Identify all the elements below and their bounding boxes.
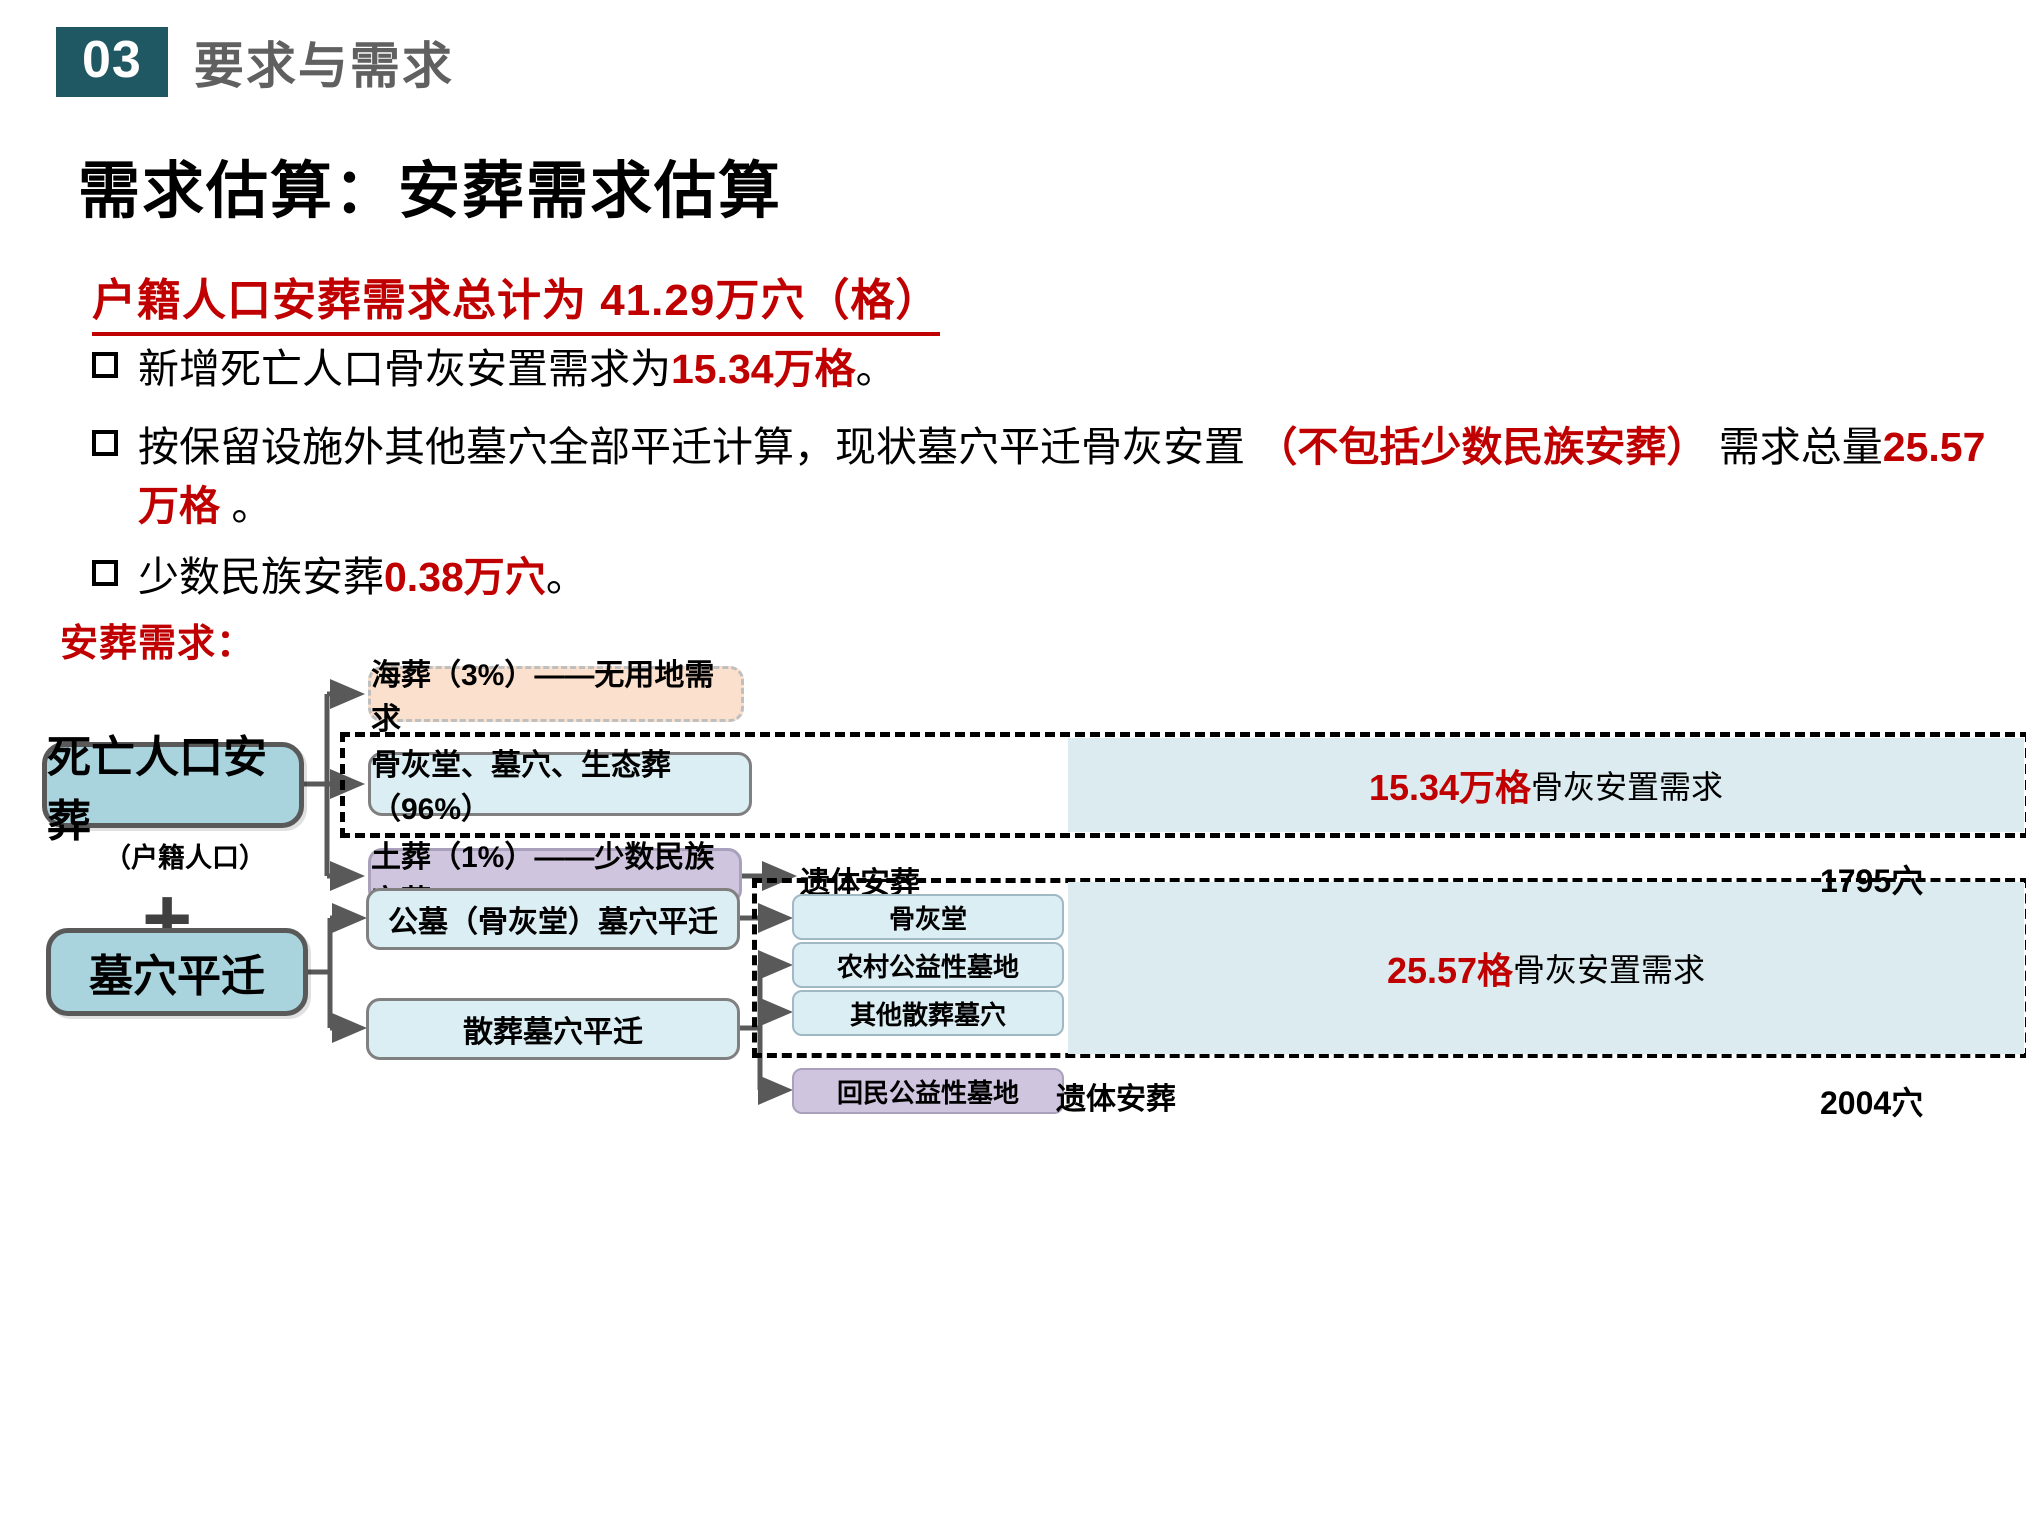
bullet-item-1: 新增死亡人口骨灰安置需求为15.34万格。: [92, 340, 897, 399]
node-sea-burial: 海葬（3%）——无用地需求: [368, 666, 744, 722]
node-scattered-grave-relocation: 散葬墓穴平迁: [366, 998, 740, 1060]
callout-bottom-value: 25.57格: [1387, 942, 1513, 994]
page-title: 需求估算：安葬需求估算: [78, 140, 782, 230]
callout-bottom-text: 骨灰安置需求: [1513, 945, 1705, 991]
node-ash-hall-label: 骨灰堂: [889, 899, 967, 936]
burial-demand-diagram: 15.34万格骨灰安置需求 25.57格骨灰安置需求 死亡人口安葬 （户籍人口）…: [0, 650, 2026, 1520]
node-death-population-burial-label: 死亡人口安葬: [47, 721, 299, 849]
node-scattered-grave-relocation-label: 散葬墓穴平迁: [463, 1007, 643, 1051]
node-muslim-public-cemetery: 回民公益性墓地: [792, 1068, 1064, 1114]
node-grave-relocation: 墓穴平迁: [46, 928, 308, 1016]
node-public-cemetery-relocation: 公墓（骨灰堂）墓穴平迁: [366, 888, 740, 950]
bullet-text-2: 按保留设施外其他墓穴全部平迁计算，现状墓穴平迁骨灰安置 （不包括少数民族安葬） …: [138, 418, 2018, 537]
bullet-text-1: 新增死亡人口骨灰安置需求为15.34万格。: [138, 340, 897, 399]
callout-top-text: 骨灰安置需求: [1531, 762, 1723, 808]
node-sea-burial-label: 海葬（3%）——无用地需求: [371, 650, 741, 738]
node-ash-hall-grave-eco: 骨灰堂、墓穴、生态葬（96%）: [368, 752, 752, 816]
square-bullet-icon: [92, 430, 118, 456]
callout-bottom: 25.57格骨灰安置需求: [1068, 882, 2024, 1054]
node-grave-relocation-label: 墓穴平迁: [89, 940, 265, 1004]
count-top: 1795穴: [1820, 856, 1923, 902]
square-bullet-icon: [92, 352, 118, 378]
section-number-badge: 03: [56, 27, 168, 98]
count-bottom: 2004穴: [1820, 1078, 1923, 1124]
node-public-cemetery-relocation-label: 公墓（骨灰堂）墓穴平迁: [388, 897, 718, 941]
node-other-scattered-graves-label: 其他散葬墓穴: [850, 995, 1006, 1032]
square-bullet-icon: [92, 560, 118, 586]
label-body-burial-bottom: 遗体安葬: [1056, 1074, 1176, 1118]
bullet-item-2: 按保留设施外其他墓穴全部平迁计算，现状墓穴平迁骨灰安置 （不包括少数民族安葬） …: [92, 418, 2018, 537]
node-rural-public-cemetery-label: 农村公益性墓地: [837, 947, 1019, 984]
node-rural-public-cemetery: 农村公益性墓地: [792, 942, 1064, 988]
bullet-item-3: 少数民族安葬0.38万穴。: [92, 548, 587, 607]
node-other-scattered-graves: 其他散葬墓穴: [792, 990, 1064, 1036]
section-header: 03 要求与需求: [56, 26, 454, 98]
callout-top-value: 15.34万格: [1369, 759, 1531, 811]
section-title: 要求与需求: [194, 26, 454, 98]
node-ash-hall-grave-eco-label: 骨灰堂、墓穴、生态葬（96%）: [371, 740, 749, 828]
node-death-population-burial: 死亡人口安葬: [42, 742, 304, 828]
callout-top: 15.34万格骨灰安置需求: [1068, 738, 2024, 832]
node-ash-hall: 骨灰堂: [792, 894, 1064, 940]
node-muslim-public-cemetery-label: 回民公益性墓地: [837, 1073, 1019, 1110]
node-death-population-sublabel: （户籍人口）: [104, 836, 266, 875]
total-demand-heading: 户籍人口安葬需求总计为 41.29万穴（格）: [92, 264, 940, 336]
bullet-text-3: 少数民族安葬0.38万穴。: [138, 548, 587, 607]
